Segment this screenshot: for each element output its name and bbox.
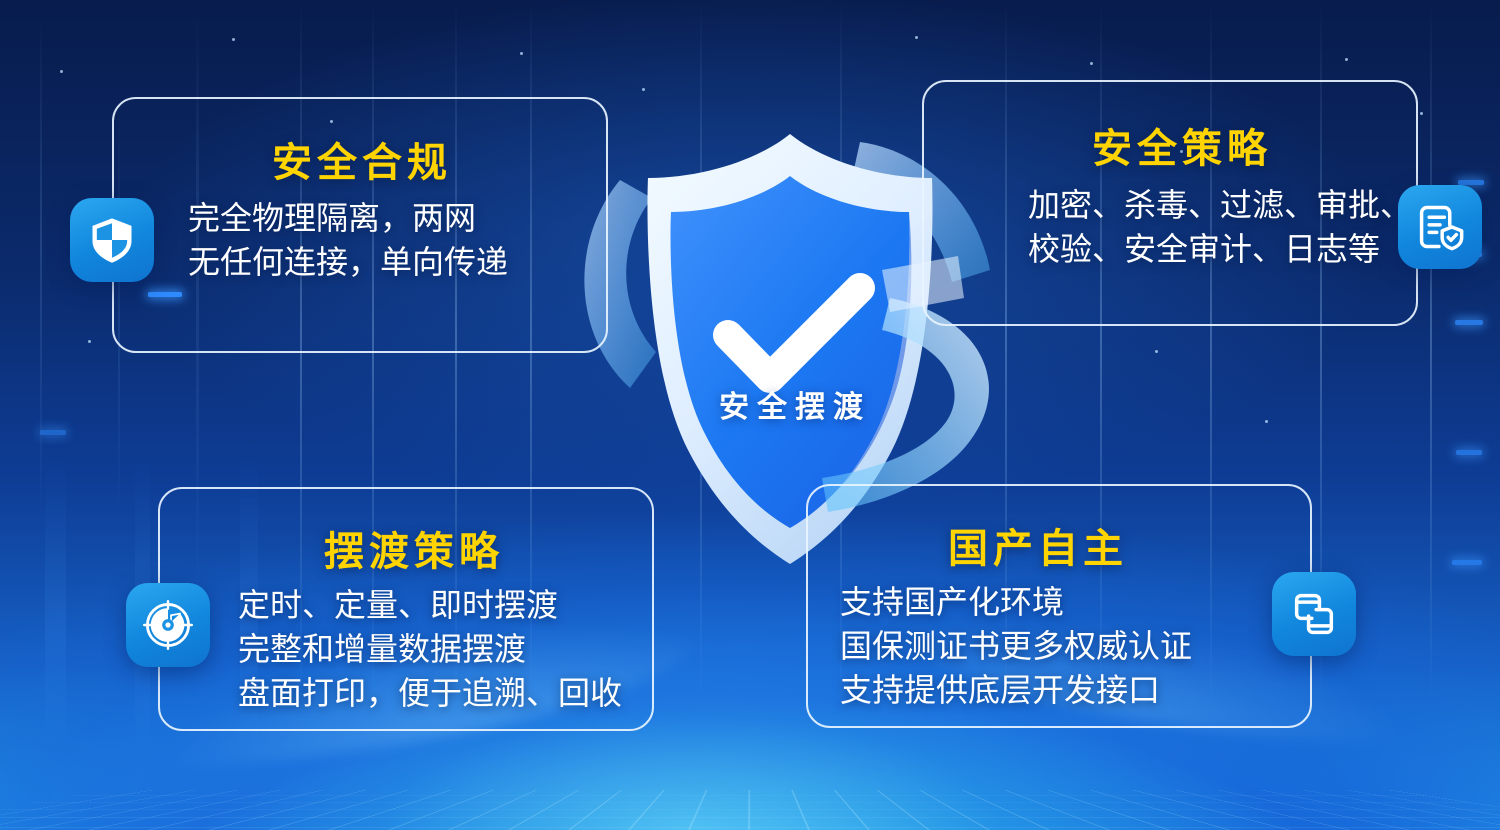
infographic-canvas: 安全摆渡 安全合规 完全物理隔离，两网 无任何连接，单向传递 安全策略 加密、杀…	[0, 0, 1500, 830]
disc-icon[interactable]	[126, 583, 210, 667]
shield-label: 安全摆渡	[560, 382, 1030, 426]
card-body-top-right: 加密、杀毒、过滤、审批、 校验、安全审计、日志等	[1028, 183, 1412, 271]
document-shield-icon[interactable]	[1398, 185, 1482, 269]
card-line: 完全物理隔离，两网	[188, 196, 508, 240]
light-streak	[1430, 0, 1432, 830]
card-line: 加密、杀毒、过滤、审批、	[1028, 183, 1412, 227]
glow-bar	[1452, 560, 1482, 565]
card-line: 支持国产化环境	[840, 580, 1192, 624]
card-title-bottom-left: 摆渡策略	[324, 519, 504, 577]
card-title-top-left: 安全合规	[272, 130, 452, 188]
card-title-top-right: 安全策略	[1092, 116, 1272, 174]
card-line: 盘面打印，便于追溯、回收	[238, 671, 622, 715]
card-body-bottom-left: 定时、定量、即时摆渡 完整和增量数据摆渡 盘面打印，便于追溯、回收	[238, 583, 622, 715]
glow-bar	[1456, 450, 1482, 455]
card-line: 国保测证书更多权威认证	[840, 624, 1192, 668]
card-line: 无任何连接，单向传递	[188, 240, 508, 284]
shield-icon[interactable]	[70, 198, 154, 282]
card-title-bottom-right: 国产自主	[948, 516, 1128, 574]
glow-bar	[40, 430, 66, 435]
card-line: 支持提供底层开发接口	[840, 668, 1192, 712]
glow-bar	[1455, 320, 1483, 325]
card-line: 定时、定量、即时摆渡	[238, 583, 622, 627]
card-line: 完整和增量数据摆渡	[238, 627, 622, 671]
perspective-grid	[0, 790, 1500, 830]
card-line: 校验、安全审计、日志等	[1028, 227, 1412, 271]
card-body-top-left: 完全物理隔离，两网 无任何连接，单向传递	[188, 196, 508, 284]
chip-swap-icon[interactable]	[1272, 572, 1356, 656]
card-body-bottom-right: 支持国产化环境 国保测证书更多权威认证 支持提供底层开发接口	[840, 580, 1192, 712]
